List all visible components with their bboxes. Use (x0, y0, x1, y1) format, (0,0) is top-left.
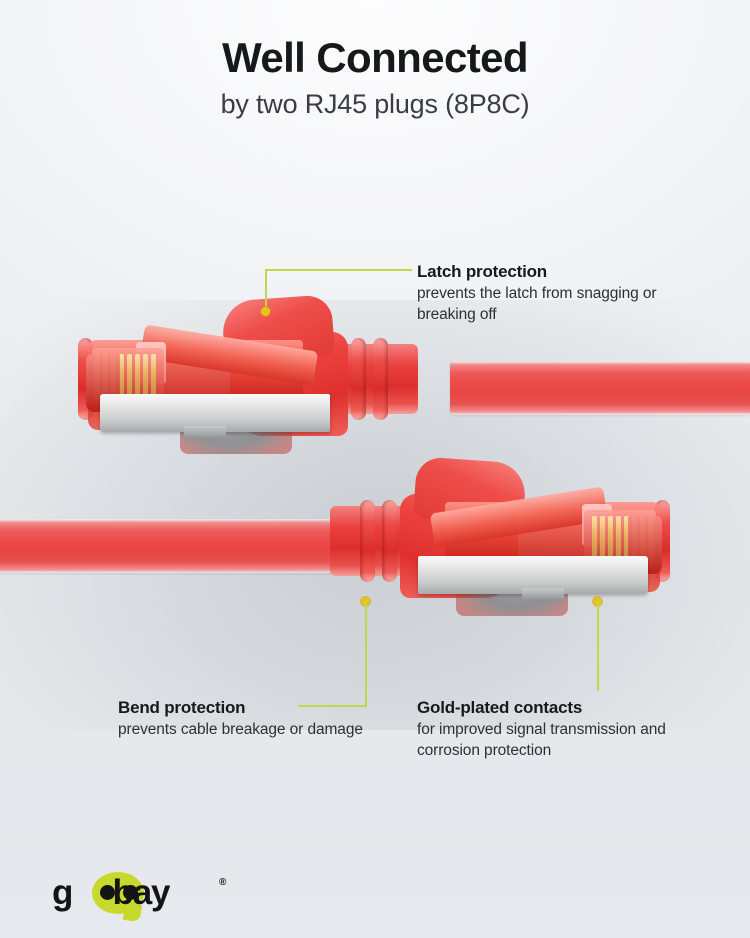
logo-eye-right-icon (123, 885, 138, 900)
callout-bend-protection: Bend protection prevents cable breakage … (118, 698, 388, 741)
callout-heading: Latch protection (417, 262, 717, 282)
bend-protection-rib (351, 338, 366, 420)
registered-trademark-mark: ® (219, 877, 226, 888)
bend-protection-rib (382, 500, 397, 582)
logo-eye-left-icon (100, 885, 115, 900)
callout-heading: Bend protection (118, 698, 388, 718)
cable-bottom (0, 519, 360, 573)
shield-tab (184, 426, 226, 439)
goobay-logo: goobay ® (52, 872, 252, 914)
callout-body: prevents cable breakage or damage (118, 720, 388, 741)
cable-top (450, 361, 750, 415)
rj45-plug-bottom (330, 458, 670, 608)
callout-body: prevents the latch from snagging or brea… (417, 284, 717, 325)
callout-body: for improved signal transmission and cor… (417, 720, 717, 761)
page-subtitle: by two RJ45 plugs (8P8C) (0, 89, 750, 120)
bend-protection-rib (373, 338, 388, 420)
callout-gold-plated-contacts: Gold-plated contacts for improved signal… (417, 698, 717, 761)
logo-text-after: bay (113, 873, 170, 912)
callout-latch-protection: Latch protection prevents the latch from… (417, 262, 717, 325)
rj45-plug-top (78, 296, 418, 446)
shield-tab (522, 588, 564, 601)
bend-protection-rib (360, 500, 375, 582)
infographic-canvas: Well Connected by two RJ45 plugs (8P8C) (0, 0, 750, 938)
logo-text-before: g (52, 873, 72, 912)
page-title: Well Connected (0, 36, 750, 81)
header: Well Connected by two RJ45 plugs (8P8C) (0, 36, 750, 120)
callout-heading: Gold-plated contacts (417, 698, 717, 718)
